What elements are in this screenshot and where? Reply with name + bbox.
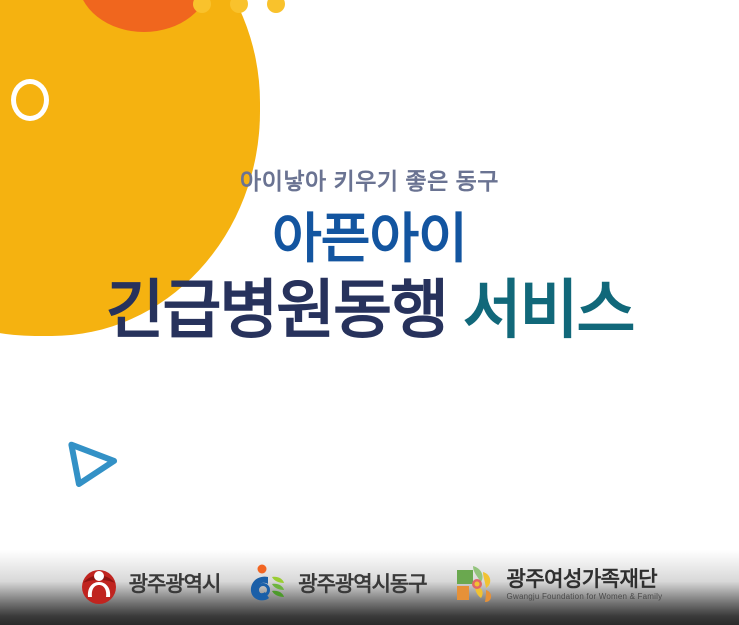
- gwangju-city-emblem-icon: [77, 563, 121, 607]
- logo-gwangju-dong-gu: 광주광역시동구: [246, 563, 426, 607]
- circle-outline-icon: [11, 79, 49, 121]
- logo-gwangju-metropolitan-city: 광주광역시: [77, 563, 221, 607]
- poster-title-line2: 긴급병원동행 서비스: [0, 274, 739, 348]
- dot-icon-3: [267, 0, 285, 13]
- poster-title-line2-accent: 서비스: [463, 274, 634, 346]
- logo-label-gwangju-foundation: 광주여성가족재단: [507, 568, 663, 589]
- women-family-foundation-emblem-icon: [453, 562, 499, 608]
- logo-text-wrap: 광주여성가족재단 Gwangju Foundation for Women & …: [507, 568, 663, 601]
- logo-text-wrap: 광주광역시: [129, 574, 221, 595]
- headline-block: 아이낳아 키우기 좋은 동구 아픈아이 긴급병원동행 서비스: [0, 168, 739, 347]
- logo-sublabel-gwangju-foundation: Gwangju Foundation for Women & Family: [507, 593, 663, 601]
- logo-label-gwangju-metropolitan-city: 광주광역시: [129, 574, 221, 595]
- footer-logo-bar: 광주광역시 광주광역시동구: [0, 550, 739, 625]
- promo-poster: 아이낳아 키우기 좋은 동구 아픈아이 긴급병원동행 서비스 광주광역시: [0, 0, 739, 625]
- dot-icon-2: [230, 0, 248, 13]
- logo-label-gwangju-dong-gu: 광주광역시동구: [298, 574, 426, 595]
- logo-gwangju-foundation-women-family: 광주여성가족재단 Gwangju Foundation for Women & …: [453, 562, 663, 608]
- poster-eyebrow: 아이낳아 키우기 좋은 동구: [0, 168, 739, 196]
- dong-gu-emblem-icon: [246, 563, 290, 607]
- poster-title-line2-main: 긴급병원동행: [106, 274, 447, 346]
- play-triangle-icon: [63, 433, 122, 492]
- logo-text-wrap: 광주광역시동구: [298, 574, 426, 595]
- poster-title-line1: 아픈아이: [0, 208, 739, 270]
